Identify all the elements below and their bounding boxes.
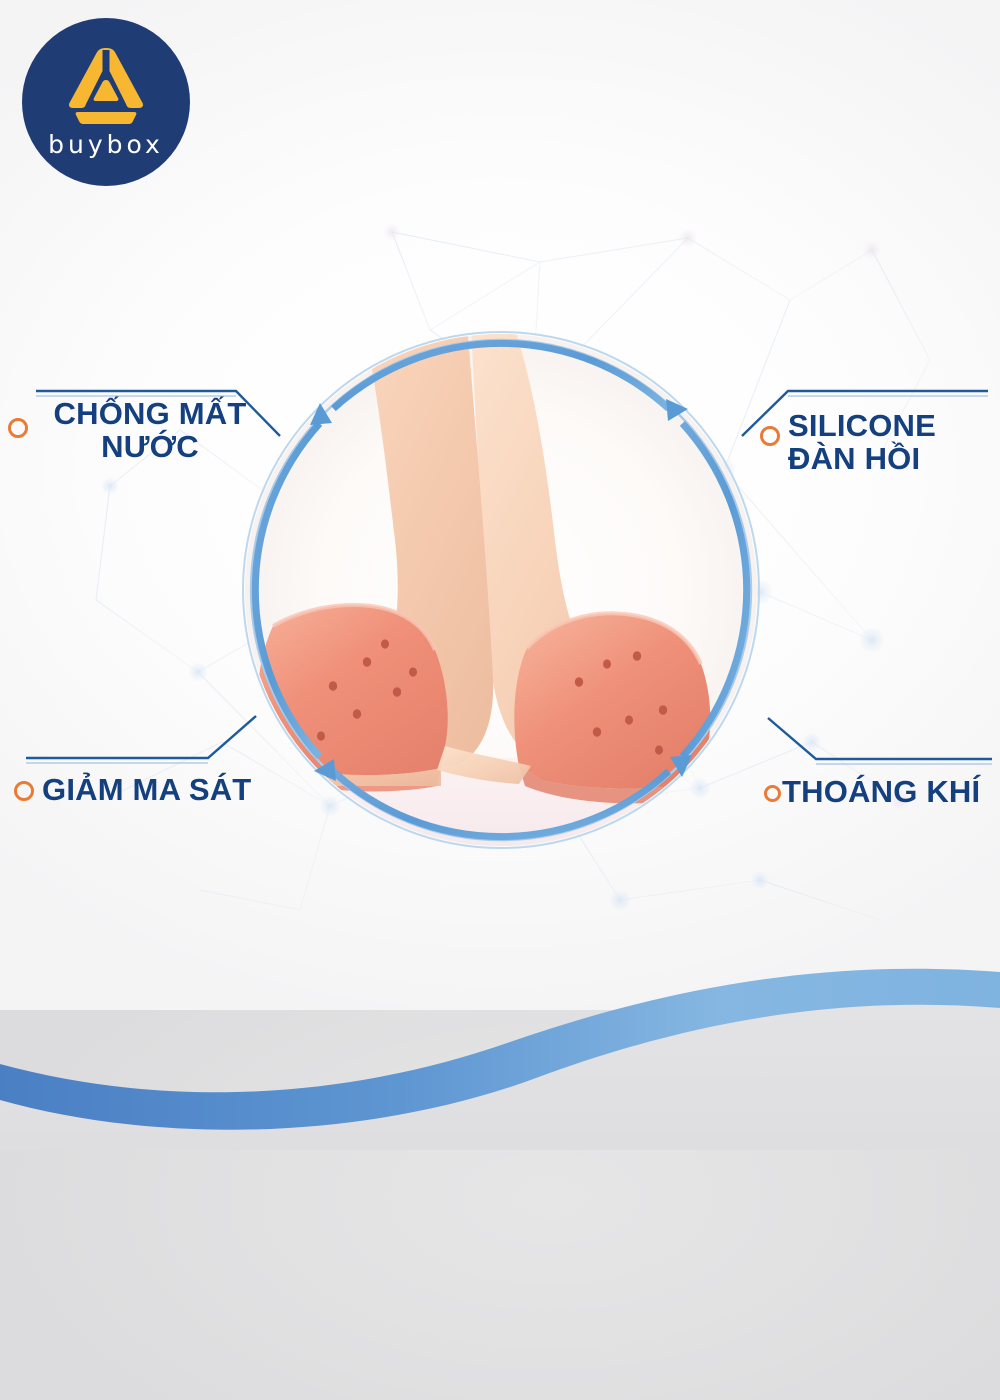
- infographic-page: buybox: [0, 0, 1000, 1400]
- orange-ring-marker-icon-chong-mat-nuoc: [8, 418, 28, 438]
- callout-label-thoang-khi: THOÁNG KHÍ: [782, 776, 1000, 809]
- orange-ring-marker-icon-thoang-khi: [764, 785, 781, 802]
- callout-label-silicone-dan-hoi: SILICONE ĐÀN HỒI: [788, 410, 1000, 476]
- product-showcase: [236, 325, 766, 855]
- callout-label-chong-mat-nuoc: CHỐNG MẤT NƯỚC: [34, 398, 266, 464]
- buybox-arch-logo-icon: [54, 46, 158, 128]
- callout-label-giam-ma-sat: GIẢM MA SÁT: [42, 774, 292, 807]
- rotating-ring-decoration: [236, 325, 766, 855]
- orange-ring-marker-icon-giam-ma-sat: [14, 781, 34, 801]
- bottom-wave-decoration: [0, 930, 1000, 1150]
- brand-wordmark: buybox: [22, 130, 190, 159]
- orange-ring-marker-icon-silicone-dan-hoi: [760, 426, 780, 446]
- brand-logo: buybox: [22, 18, 190, 186]
